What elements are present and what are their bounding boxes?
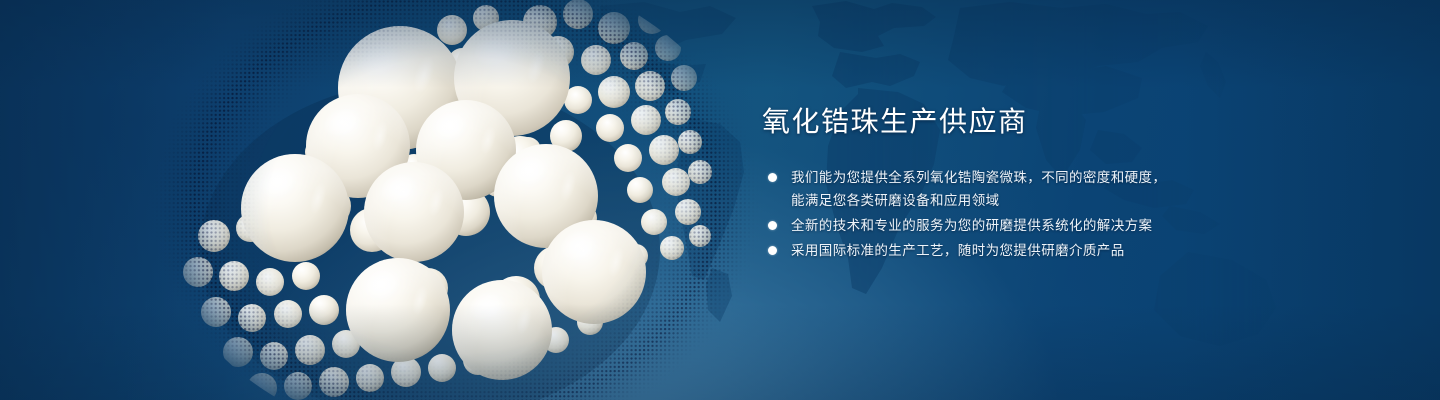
list-item-line: 我们能为您提供全系列氧化锆陶瓷微珠，不同的密度和硬度， xyxy=(791,166,1232,189)
list-item-line: 能满足您各类研磨设备和应用领域 xyxy=(791,189,1232,212)
page-title: 氧化锆珠生产供应商 xyxy=(762,104,1232,140)
bullet-dot-icon xyxy=(768,173,777,182)
hero-banner: 氧化锆珠生产供应商 我们能为您提供全系列氧化锆陶瓷微珠，不同的密度和硬度， 能满… xyxy=(0,0,1440,400)
list-item-line: 全新的技术和专业的服务为您的研磨提供系统化的解决方案 xyxy=(791,214,1232,237)
list-item: 采用国际标准的生产工艺，随时为您提供研磨介质产品 xyxy=(762,239,1232,262)
feature-list: 我们能为您提供全系列氧化锆陶瓷微珠，不同的密度和硬度， 能满足您各类研磨设备和应… xyxy=(762,166,1232,262)
bullet-dot-icon xyxy=(768,221,777,230)
list-item-line: 采用国际标准的生产工艺，随时为您提供研磨介质产品 xyxy=(791,239,1232,262)
list-item: 全新的技术和专业的服务为您的研磨提供系统化的解决方案 xyxy=(762,214,1232,237)
list-item: 我们能为您提供全系列氧化锆陶瓷微珠，不同的密度和硬度， 能满足您各类研磨设备和应… xyxy=(762,166,1232,212)
banner-content: 氧化锆珠生产供应商 我们能为您提供全系列氧化锆陶瓷微珠，不同的密度和硬度， 能满… xyxy=(762,104,1232,264)
bullet-dot-icon xyxy=(768,246,777,255)
